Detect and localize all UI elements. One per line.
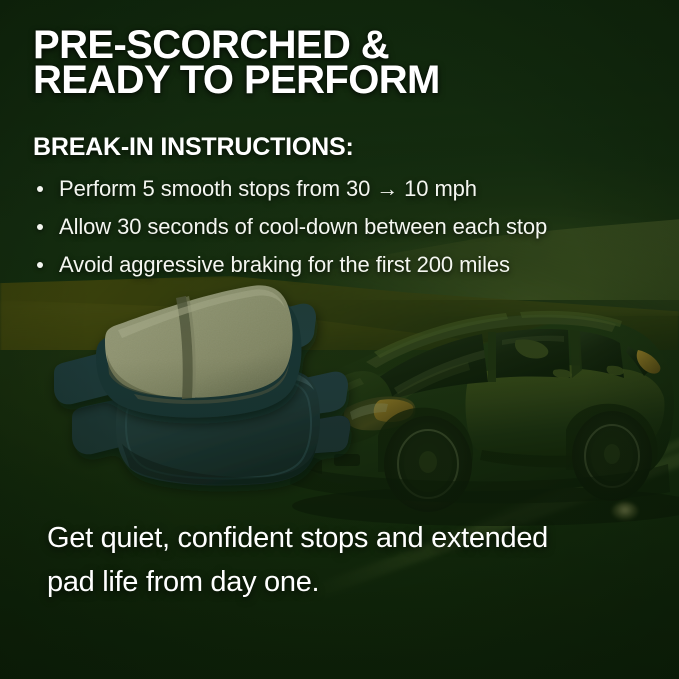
list-item: Avoid aggressive braking for the first 2…	[35, 246, 645, 284]
list-item-label: Allow 30 seconds of cool-down between ea…	[59, 214, 547, 239]
list-item-label: Perform 5 smooth stops from 30 → 10 mph	[59, 176, 477, 201]
list-item: Allow 30 seconds of cool-down between ea…	[35, 208, 645, 246]
headline: PRE-SCORCHED & READY TO PERFORM	[33, 28, 440, 98]
tagline: Get quiet, confident stops and extended …	[47, 516, 657, 604]
list-item: Perform 5 smooth stops from 30 → 10 mph	[35, 170, 645, 208]
break-in-instruction-list: Perform 5 smooth stops from 30 → 10 mph …	[35, 170, 645, 284]
list-item-label: Avoid aggressive braking for the first 2…	[59, 252, 510, 277]
promo-graphic: PRE-SCORCHED & READY TO PERFORM BREAK-IN…	[0, 0, 679, 679]
break-in-instructions-label: BREAK-IN INSTRUCTIONS:	[33, 133, 354, 161]
text-layer: PRE-SCORCHED & READY TO PERFORM BREAK-IN…	[0, 0, 679, 679]
bullet-dot-icon	[37, 186, 43, 192]
bullet-dot-icon	[37, 224, 43, 230]
bullet-dot-icon	[37, 262, 43, 268]
